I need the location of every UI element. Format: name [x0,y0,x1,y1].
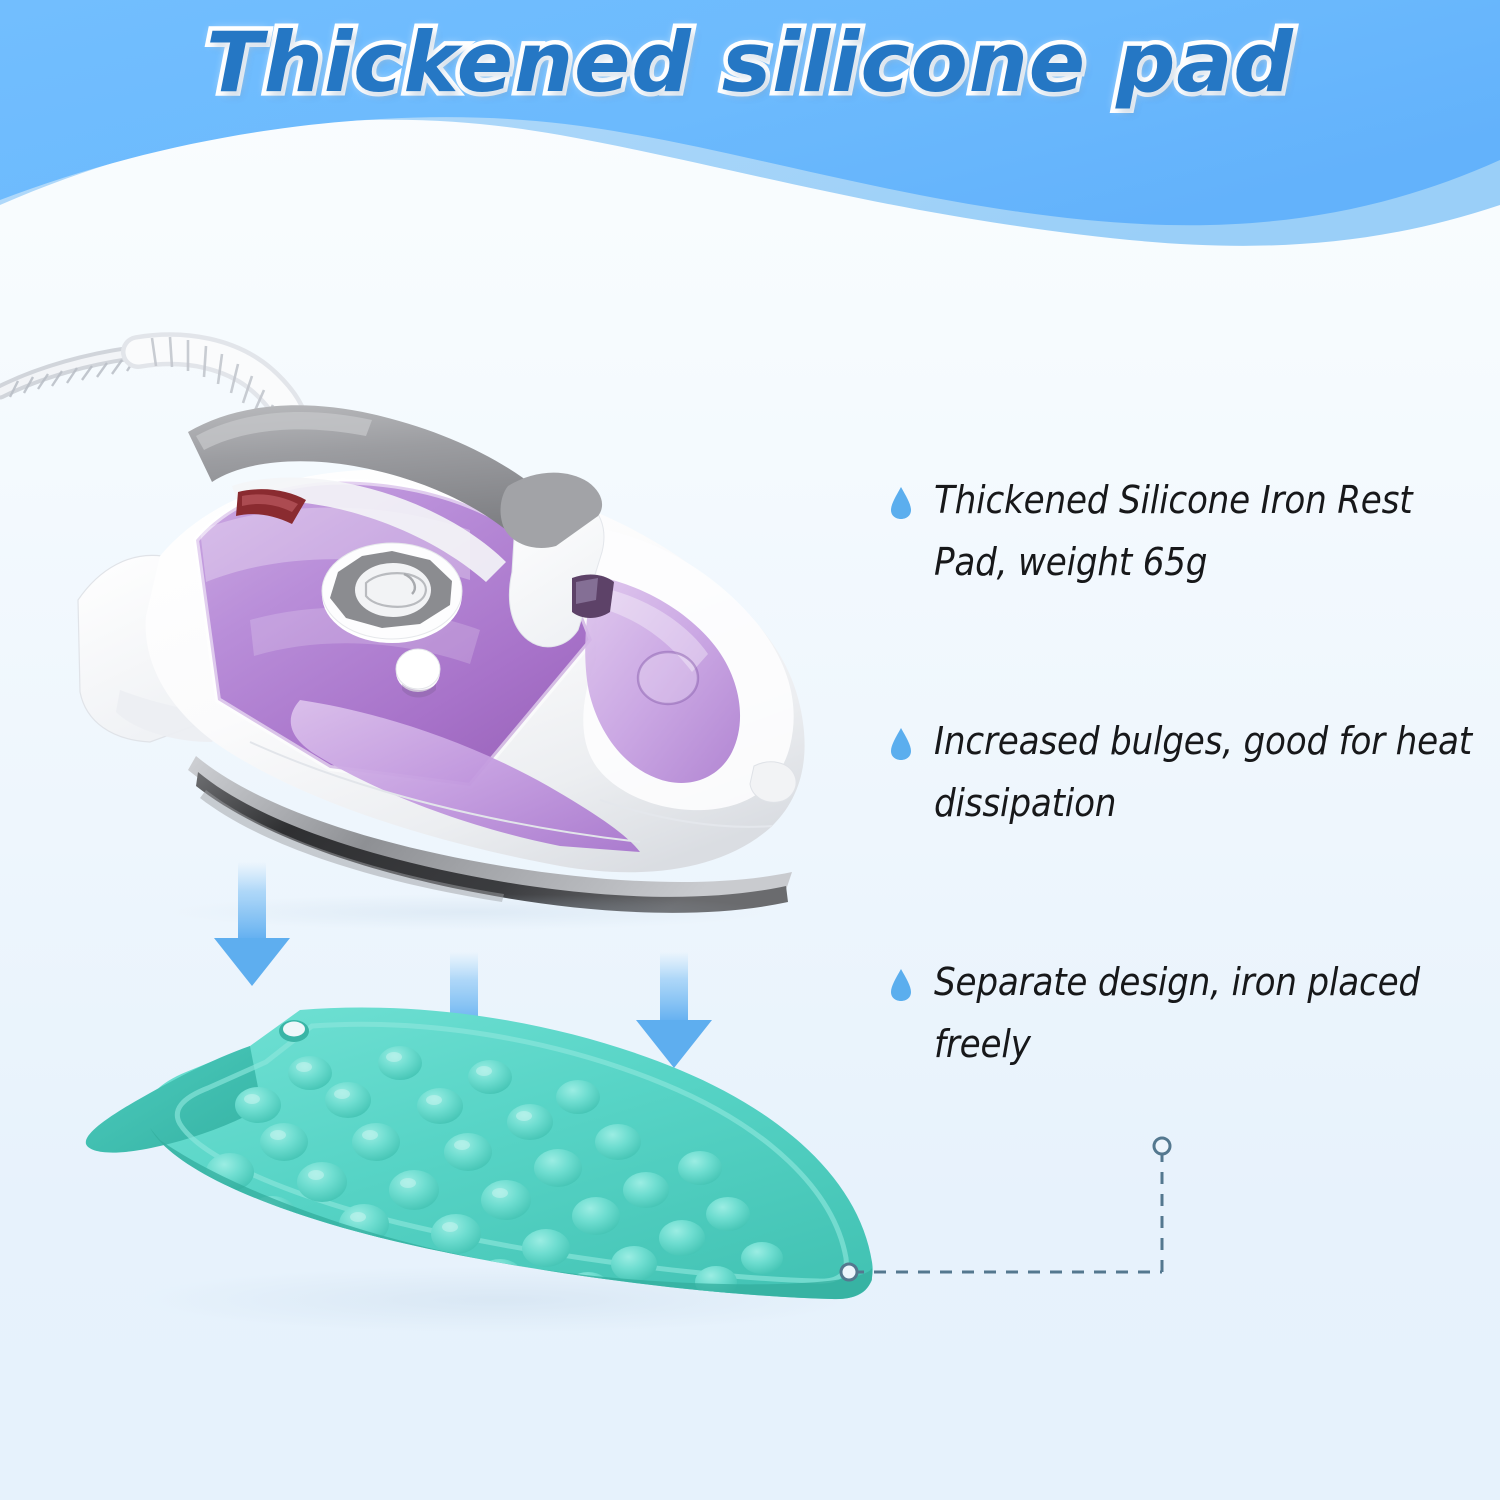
water-droplet-bullet-icon [890,486,912,520]
iron-tank-sweep [291,700,640,852]
iron-spray-button [396,652,440,692]
feature-item: Separate design, iron placed freely [890,952,1490,1075]
iron-steam-trigger [572,575,614,618]
iron-soleplate-chrome [188,756,792,899]
product-infographic-page: Thickened silicone pad [0,0,1500,1500]
iron-soleplate [196,772,788,913]
feature-item: Thickened Silicone Iron Rest Pad, weight… [890,470,1490,593]
feature-item: Increased bulges, good for heat dissipat… [890,711,1490,834]
feature-text: Thickened Silicone Iron Rest Pad, weight… [934,470,1490,593]
water-droplet-bullet-icon [890,727,912,761]
silicone-mat-product [86,1008,873,1335]
iron-handle-grey-cap [501,473,603,548]
down-arrow-group [214,862,712,1072]
iron-power-cord [0,337,293,441]
feature-list: Thickened Silicone Iron Rest Pad, weight… [890,470,1490,1075]
mat-body [146,1008,873,1300]
iron-handle [188,405,556,540]
iron-handle-front-post [509,492,604,646]
iron-front-window [585,576,740,783]
iron-heel [78,555,230,742]
down-arrow-3 [636,952,712,1068]
mat-hanging-hole [279,1020,309,1042]
page-title: Thickened silicone pad [0,14,1500,111]
measurement-callout [852,1150,1162,1272]
mat-bumps [206,1046,783,1330]
iron-side-knob [750,762,796,802]
callout-endpoint-dots [841,1138,1170,1280]
steam-iron-product [78,405,805,930]
iron-water-tank [150,450,670,850]
down-arrow-2 [426,952,502,1072]
iron-temperature-dial [322,543,462,643]
feature-text: Increased bulges, good for heat dissipat… [934,711,1490,834]
feature-text: Separate design, iron placed freely [934,952,1490,1075]
water-droplet-bullet-icon [890,968,912,1002]
mat-tail [86,1046,262,1153]
iron-indicator-light [236,489,306,524]
iron-nose [583,528,793,810]
iron-body [146,470,805,873]
header-banner: Thickened silicone pad [0,0,1500,260]
down-arrow-1 [214,862,290,986]
